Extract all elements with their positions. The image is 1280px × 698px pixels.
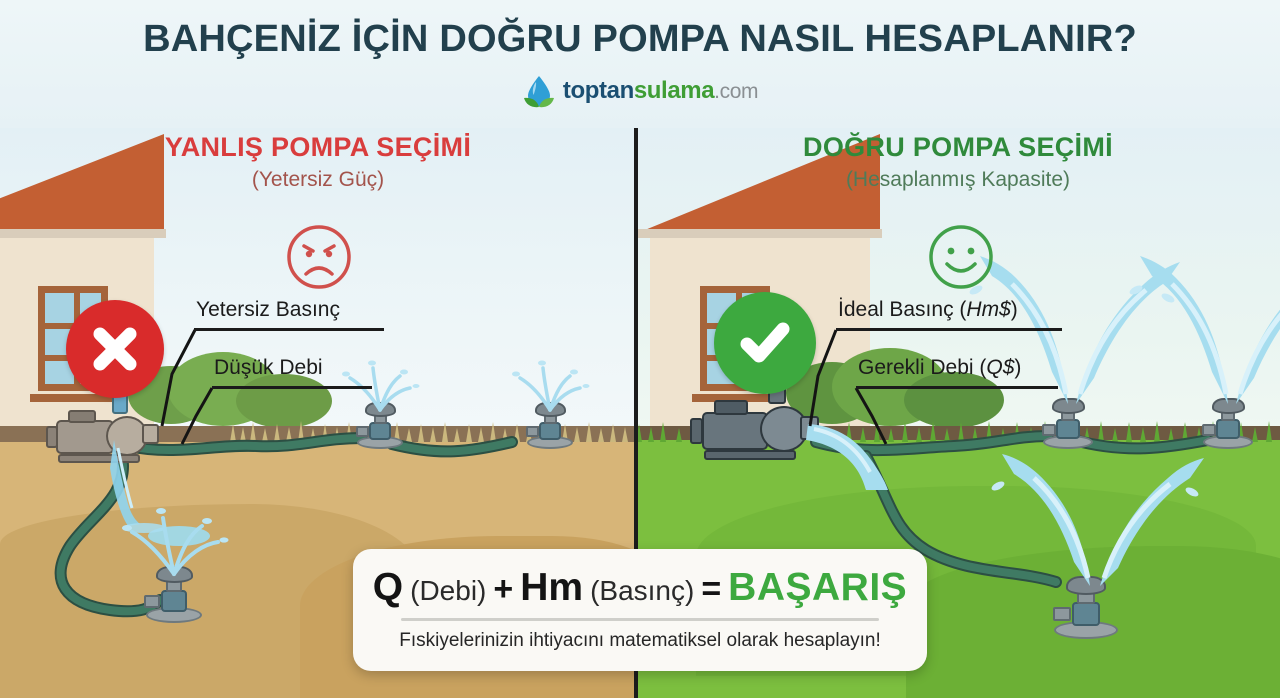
callout-right-1: İdeal Basınç (Hm$) <box>838 298 1088 332</box>
pump-base-plate <box>58 454 140 463</box>
infographic-canvas: YANLIŞ POMPA SEÇİMİ (Yetersiz Güç) DOĞRU… <box>0 0 1280 698</box>
formula-divider-rule <box>401 618 879 621</box>
sprinkler-head <box>1052 398 1085 414</box>
water-drop-leaf-icon <box>522 74 556 108</box>
sprinkler-head <box>1212 398 1245 414</box>
pump-terminal-box <box>68 410 96 423</box>
formula-line: Q (Debi) + Hm (Basınç) = BAŞARIŞ <box>373 568 907 607</box>
callout-left-1: Yetersiz Basınç <box>196 298 396 332</box>
formula-operator: + <box>493 572 513 606</box>
formula-hm-label: (Basınç) <box>590 577 694 605</box>
callout-right-1-close: ) <box>1011 298 1018 321</box>
header-band: BAHÇENİZ İÇİN DOĞRU POMPA NASIL HESAPLAN… <box>0 0 1280 128</box>
callout-left-2: Düşük Debi <box>214 356 394 390</box>
red-x-badge <box>66 300 164 398</box>
pump-base-plate <box>704 450 796 460</box>
callout-right-2-rule <box>856 386 1058 389</box>
sprinkler-body <box>369 422 391 440</box>
sprinkler-body <box>1056 419 1080 439</box>
formula-card: Q (Debi) + Hm (Basınç) = BAŞARIŞ Fıskiye… <box>353 549 927 671</box>
sprinkler-inlet <box>356 426 369 437</box>
page-title: BAHÇENİZ İÇİN DOĞRU POMPA NASIL HESAPLAN… <box>0 18 1280 61</box>
formula-q-label: (Debi) <box>410 577 486 605</box>
formula-equals: = <box>701 572 721 606</box>
sprinkler-head <box>156 566 193 583</box>
brand-logo[interactable]: toptansulama.com <box>0 74 1280 108</box>
pump-outlet-port <box>800 416 819 440</box>
red-x-cross-icon <box>87 321 143 377</box>
sprinkler-right-2 <box>1198 398 1258 450</box>
brand-part-3: .com <box>714 80 758 103</box>
sprinkler-body <box>161 590 187 612</box>
happy-face-icon <box>928 224 994 295</box>
pump-rear-cap <box>46 426 58 448</box>
sprinkler-left-3 <box>140 566 208 624</box>
heading-block-left: YANLIŞ POMPA SEÇİMİ (Yetersiz Güç) <box>0 132 636 192</box>
sprinkler-right-1 <box>1038 398 1098 450</box>
heading-block-right: DOĞRU POMPA SEÇİMİ (Hesaplanmış Kapasite… <box>636 132 1280 192</box>
callout-right-1-rule <box>836 328 1062 331</box>
formula-note: Fıskiyelerinizin ihtiyacını matematiksel… <box>399 630 881 652</box>
sad-face-icon <box>286 224 352 295</box>
callout-right-1-text: İdeal Basınç (Hm$) <box>838 298 1018 321</box>
pump-motor-housing <box>702 412 768 450</box>
brand-part-2: sulama <box>634 77 714 104</box>
callout-left-2-rule <box>212 386 372 389</box>
brand-part-1: toptan <box>563 77 634 104</box>
subheading-wrong-pump: (Yetersiz Güç) <box>0 168 636 192</box>
callout-right-2-plain: Gerekli Debi ( <box>858 356 986 379</box>
callout-right-2-close: ) <box>1014 356 1021 379</box>
callout-right-2: Gerekli Debi (Q$) <box>858 356 1088 390</box>
brand-wordmark: toptansulama.com <box>563 77 758 105</box>
sprinkler-right-3 <box>1048 576 1124 640</box>
sprinkler-head <box>365 402 396 417</box>
green-check-badge <box>714 292 816 394</box>
pump-outlet-port <box>142 424 159 444</box>
sprinkler-body <box>539 422 561 440</box>
sprinkler-inlet <box>1053 607 1071 621</box>
subheading-correct-pump: (Hesaplanmış Kapasite) <box>636 168 1280 192</box>
callout-left-1-text: Yetersiz Basınç <box>196 298 340 321</box>
callout-right-1-plain: İdeal Basınç ( <box>838 298 966 321</box>
heading-wrong-pump: YANLIŞ POMPA SEÇİMİ <box>0 132 636 163</box>
callout-right-2-text: Gerekli Debi (Q$) <box>858 356 1021 379</box>
sprinkler-left-1 <box>352 402 408 450</box>
pump-rear-cap <box>690 418 703 444</box>
sprinkler-left-2 <box>522 402 578 450</box>
formula-result: BAŞARIŞ <box>728 568 907 607</box>
pump-wrong <box>46 408 161 466</box>
sprinkler-inlet <box>1042 424 1056 436</box>
sprinkler-inlet <box>526 426 539 437</box>
callout-left-1-rule <box>194 328 384 331</box>
pump-correct <box>694 398 819 466</box>
pump-terminal-box <box>714 400 748 415</box>
sprinkler-head <box>1066 576 1106 595</box>
sprinkler-inlet <box>1202 424 1216 436</box>
heading-correct-pump: DOĞRU POMPA SEÇİMİ <box>636 132 1280 163</box>
callout-right-2-symbol: Q$ <box>986 356 1014 379</box>
green-check-icon <box>735 313 795 373</box>
sprinkler-body <box>1216 419 1240 439</box>
callout-left-2-text: Düşük Debi <box>214 356 323 379</box>
formula-q-symbol: Q <box>373 568 403 607</box>
formula-hm-symbol: Hm <box>520 568 583 607</box>
sprinkler-inlet <box>144 595 160 608</box>
sprinkler-head <box>535 402 566 417</box>
callout-right-1-symbol: Hm$ <box>966 298 1010 321</box>
sprinkler-body <box>1072 602 1100 626</box>
